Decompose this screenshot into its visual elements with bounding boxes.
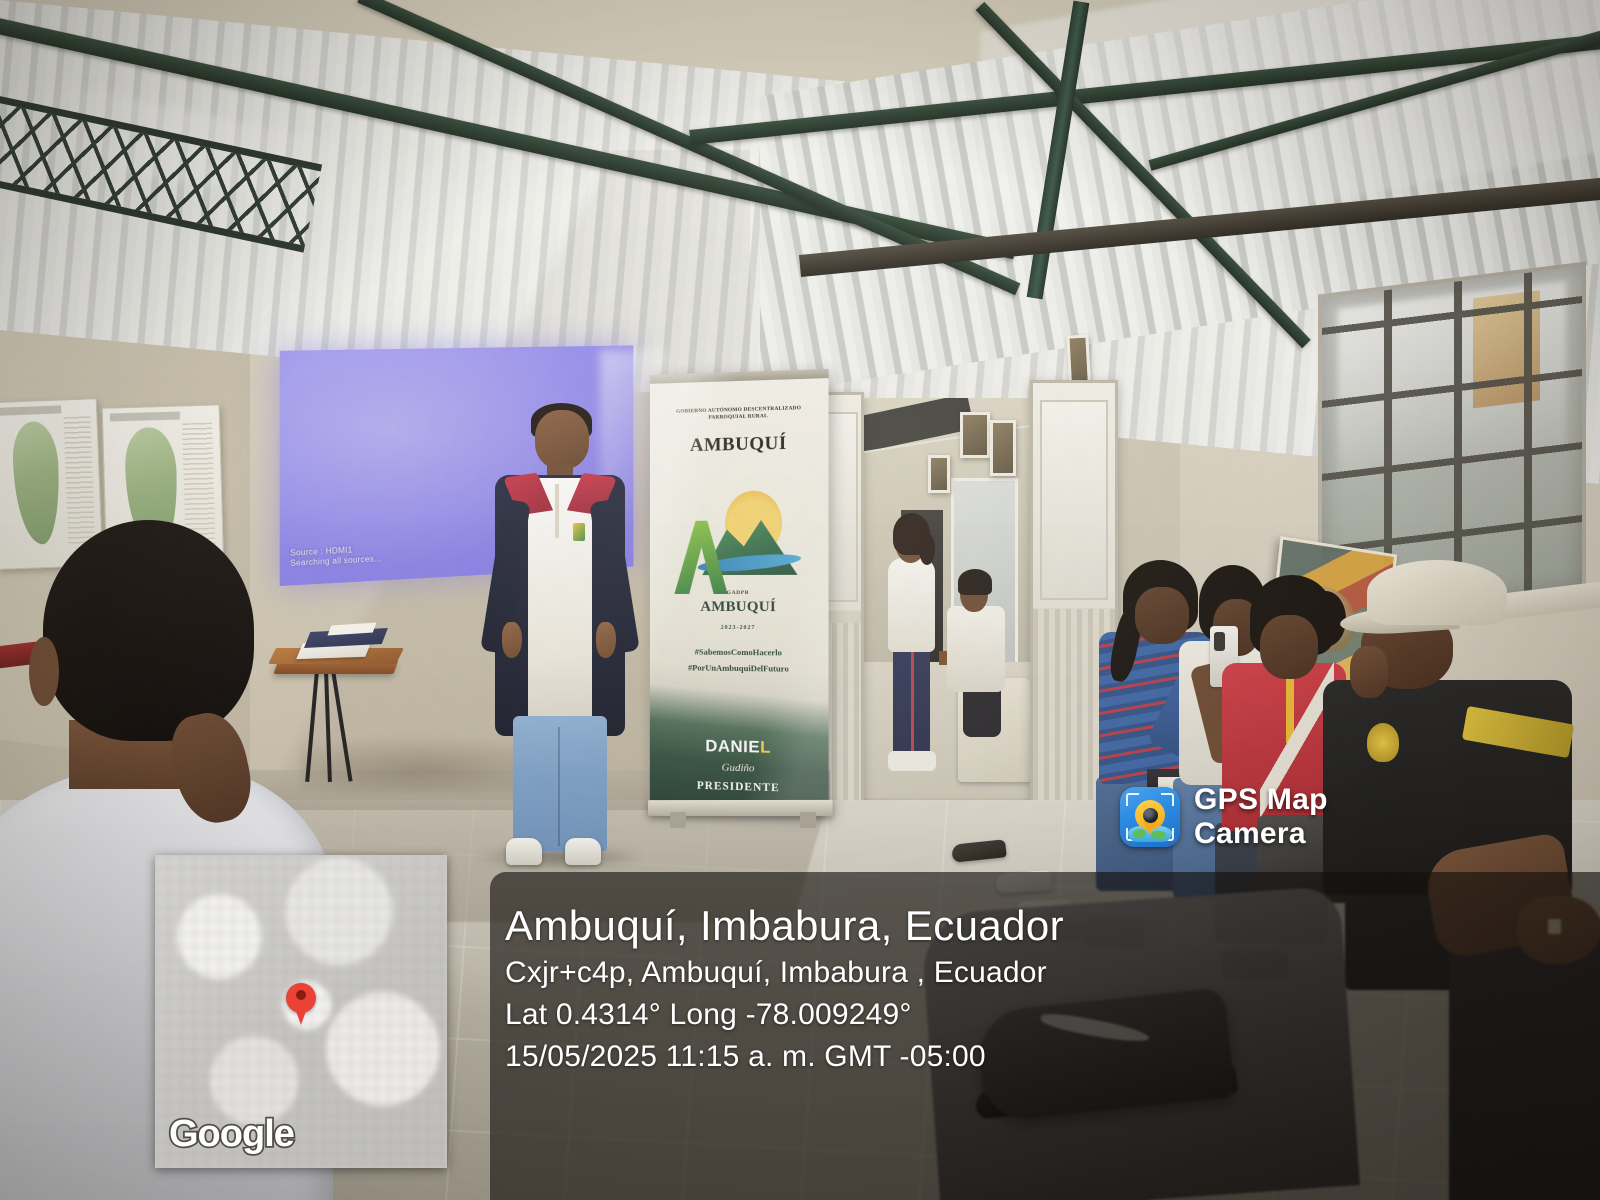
location-title: Ambuquí, Imbabura, Ecuador: [505, 900, 1595, 952]
location-address: Cxjr+c4p, Ambuquí, Imbabura , Ecuador: [505, 952, 1595, 994]
gps-map-camera-label: GPS Map Camera: [1194, 783, 1440, 851]
framed-picture: [990, 420, 1016, 476]
baseball-cap: [1367, 560, 1507, 625]
location-coordinates: Lat 0.4314° Long -78.009249°: [505, 994, 1595, 1036]
gps-overlay-text: Ambuquí, Imbabura, Ecuador Cxjr+c4p, Amb…: [505, 900, 1595, 1078]
gps-map-camera-icon: [1120, 787, 1180, 847]
banner-foot: [800, 812, 816, 828]
google-watermark: Google: [169, 1113, 294, 1156]
location-timestamp: 15/05/2025 11:15 a. m. GMT -05:00: [505, 1036, 1595, 1078]
presenter-speaker: [470, 410, 650, 860]
map-thumbnail[interactable]: Google: [155, 855, 447, 1168]
framed-picture: [960, 412, 990, 458]
person-standing-corridor: [883, 518, 944, 766]
rollup-banner: GOBIERNO AUTÓNOMO DESCENTRALIZADO PARROQ…: [650, 369, 829, 815]
framed-picture: [928, 455, 950, 493]
photo-canvas: Source : HDMI1 Searching all sources...: [0, 0, 1600, 1200]
banner-foot: [670, 812, 686, 828]
person-seated-office: [947, 574, 1008, 734]
gps-map-camera-badge: GPS Map Camera: [1120, 786, 1440, 848]
